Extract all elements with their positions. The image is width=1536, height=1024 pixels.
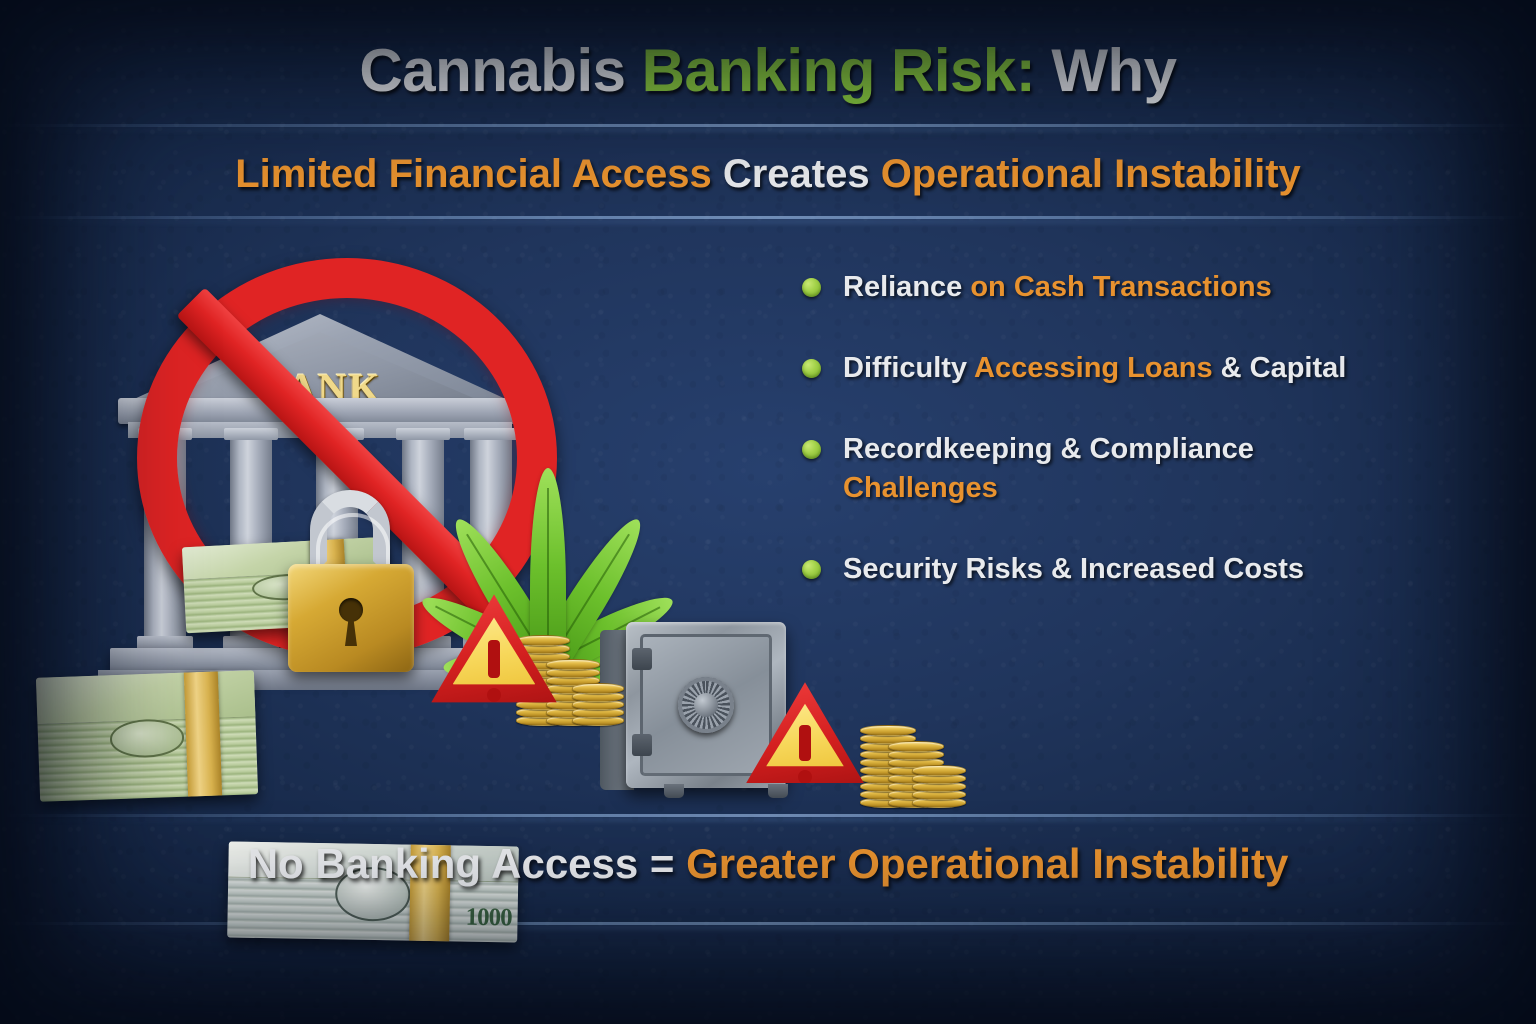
padlock-keyhole: [339, 598, 363, 622]
padlock-icon: [286, 490, 416, 675]
footer-statement: No Banking Access = Greater Operational …: [0, 840, 1536, 888]
coin: [572, 683, 624, 694]
warning-triangle-shape: [430, 592, 558, 712]
footer-part-2: Greater Operational Instability: [686, 840, 1288, 887]
list-item[interactable]: Reliance on Cash Transactions: [802, 268, 1422, 307]
list-item[interactable]: Recordkeeping & ComplianceChallenges: [802, 430, 1422, 508]
cash-stack-icon: [36, 670, 258, 802]
infographic-slide: Cannabis Banking Risk: Why Limited Finan…: [0, 0, 1536, 1024]
list-item[interactable]: Security Risks & Increased Costs: [802, 550, 1422, 589]
bullet-orange-text: on Cash Transactions: [970, 271, 1271, 303]
coin: [860, 725, 916, 736]
illustration-scene: BANK: [0, 236, 800, 816]
coin: [888, 741, 944, 752]
subtitle: Limited Financial Access Creates Operati…: [0, 152, 1536, 197]
bill-denomination: 1000: [465, 904, 511, 933]
safe-hinge: [632, 734, 652, 756]
bullet-white-text: Security Risks & Increased Costs: [843, 553, 1304, 585]
exclamation-mark-icon: [488, 640, 500, 678]
bullet-orange-text: Accessing Loans: [974, 352, 1213, 384]
page-title: Cannabis Banking Risk: Why: [0, 36, 1536, 105]
cash-top-bill: [36, 670, 256, 725]
gold-coin-stack-icon: [860, 698, 968, 808]
list-item[interactable]: Difficulty Accessing Loans & Capital: [802, 349, 1422, 388]
subtitle-part-1: Limited Financial Access: [235, 152, 723, 196]
coin: [912, 765, 966, 776]
bullet-text: Recordkeeping & ComplianceChallenges: [843, 430, 1254, 508]
title-part-2: Banking Risk:: [642, 37, 1036, 104]
padlock-body: [288, 564, 414, 672]
bullet-dot-icon: [802, 440, 821, 459]
safe-foot: [664, 784, 684, 798]
bullet-white-text: Recordkeeping & Compliance: [843, 433, 1254, 465]
footer-part-1: No Banking Access =: [248, 840, 686, 887]
bullet-text: Difficulty Accessing Loans & Capital: [843, 349, 1346, 388]
title-part-3: Why: [1035, 37, 1176, 104]
divider-top: [0, 124, 1536, 127]
subtitle-part-3: Operational Instability: [881, 152, 1301, 196]
bullet-text: Security Risks & Increased Costs: [843, 550, 1304, 589]
bullet-orange-text: Challenges: [843, 472, 998, 504]
warning-triangle-icon: [745, 680, 865, 792]
cash-band: [184, 671, 222, 796]
safe-hinge: [632, 648, 652, 670]
coin-column: [912, 762, 966, 808]
title-part-1: Cannabis: [359, 37, 641, 104]
divider-subtitle: [0, 216, 1536, 219]
warning-triangle-icon: [430, 592, 558, 712]
bill-portrait-oval: [109, 719, 184, 759]
bullet-dot-icon: [802, 560, 821, 579]
bullet-dot-icon: [802, 278, 821, 297]
combination-dial-icon: [678, 677, 734, 733]
exclamation-mark-icon: [799, 725, 811, 761]
subtitle-part-2: Creates: [723, 152, 881, 196]
bullet-tail-text: & Capital: [1213, 352, 1347, 384]
warning-triangle-shape: [745, 680, 865, 792]
coin-column: [572, 680, 624, 726]
bullet-white-text: Reliance: [843, 271, 970, 303]
bullet-text: Reliance on Cash Transactions: [843, 268, 1272, 307]
bullet-white-text: Difficulty: [843, 352, 974, 384]
risk-bullet-list: Reliance on Cash Transactions Difficulty…: [802, 268, 1422, 589]
bullet-dot-icon: [802, 359, 821, 378]
